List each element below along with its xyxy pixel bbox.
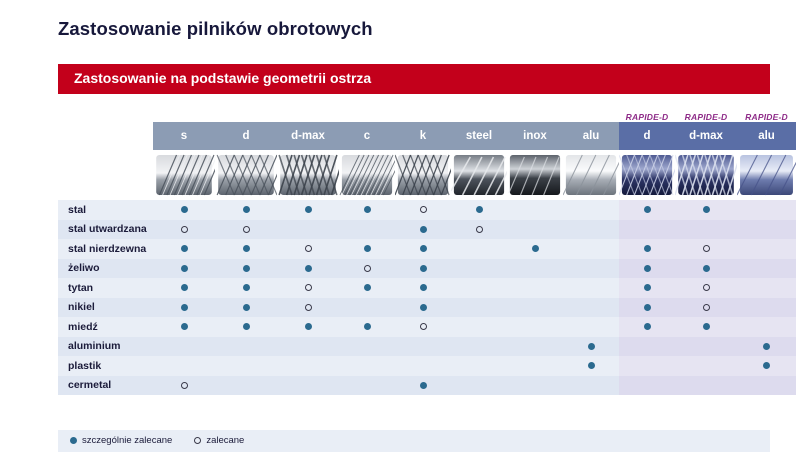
cell-tytan-alu	[563, 278, 619, 298]
mark-open	[703, 245, 710, 252]
mark-full	[703, 206, 710, 213]
table-row: stal	[58, 200, 796, 220]
cell-tytan-inox	[507, 278, 563, 298]
table-row: aluminium	[58, 337, 796, 357]
mark-full	[532, 245, 539, 252]
cell-tytan-steel	[451, 278, 507, 298]
cell-plastik-d-max	[277, 356, 339, 376]
cell-stalutw-steel	[451, 220, 507, 240]
cell-nikiel-d-max	[277, 298, 339, 318]
cell-nierdz-alu	[563, 239, 619, 259]
mark-open	[364, 265, 371, 272]
cell-cermetal-steel	[451, 376, 507, 396]
cell-stal-rapide-d-max	[675, 200, 737, 220]
burr-icon-s	[153, 151, 215, 199]
burr-icon-rapide-d-max	[675, 151, 737, 199]
mark-full	[644, 284, 651, 291]
mark-full	[305, 323, 312, 330]
column-header-row: s d d-max c k steel inox alu d d-max alu	[58, 122, 796, 150]
mark-open	[305, 245, 312, 252]
column-header-s: s	[153, 122, 215, 150]
cell-zeliwo-k	[395, 259, 451, 279]
burr-icon-alu	[563, 151, 619, 199]
cell-nikiel-steel	[451, 298, 507, 318]
rapide-label-2: RAPIDE-D	[675, 104, 737, 122]
row-label-plastik: plastik	[58, 356, 153, 376]
cell-cermetal-alu	[563, 376, 619, 396]
cell-nikiel-inox	[507, 298, 563, 318]
tool-image-cell-d-max	[277, 150, 339, 200]
mark-full	[243, 206, 250, 213]
cell-zeliwo-s	[153, 259, 215, 279]
cell-miedz-d	[215, 317, 277, 337]
column-header-k: k	[395, 122, 451, 150]
cell-cermetal-s	[153, 376, 215, 396]
cell-plastik-k	[395, 356, 451, 376]
tool-image-cell-s	[153, 150, 215, 200]
cell-stalutw-inox	[507, 220, 563, 240]
cell-stal-steel	[451, 200, 507, 220]
rapide-spacer	[563, 104, 619, 122]
mark-full	[364, 284, 371, 291]
burr-icon-d	[215, 151, 277, 199]
cell-zeliwo-rapide-d	[619, 259, 675, 279]
column-header-steel: steel	[451, 122, 507, 150]
column-header-c: c	[339, 122, 395, 150]
cell-nierdz-d-max	[277, 239, 339, 259]
column-header-rapide-alu: alu	[737, 122, 796, 150]
cell-plastik-rapide-d	[619, 356, 675, 376]
page-title: Zastosowanie pilników obrotowych	[58, 18, 373, 40]
table-row: miedź	[58, 317, 796, 337]
legend: szczególnie zalecane zalecane	[58, 430, 770, 452]
rapide-label-row: RAPIDE-D RAPIDE-D RAPIDE-D	[58, 104, 796, 122]
legend-full-label: szczególnie zalecane	[82, 435, 172, 446]
cell-stalutw-rapide-alu	[737, 220, 796, 240]
section-banner-label: Zastosowanie na podstawie geometrii ostr…	[74, 70, 371, 86]
mark-full	[181, 206, 188, 213]
mark-open	[181, 226, 188, 233]
cell-cermetal-rapide-d	[619, 376, 675, 396]
cell-stal-alu	[563, 200, 619, 220]
mark-full	[763, 343, 770, 350]
table-row: stal utwardzana	[58, 220, 796, 240]
mark-full	[181, 284, 188, 291]
cell-miedz-rapide-d-max	[675, 317, 737, 337]
mark-full	[420, 245, 427, 252]
cell-cermetal-rapide-alu	[737, 376, 796, 396]
section-banner: Zastosowanie na podstawie geometrii ostr…	[58, 64, 770, 94]
cell-plastik-inox	[507, 356, 563, 376]
cell-tytan-d	[215, 278, 277, 298]
cell-nierdz-steel	[451, 239, 507, 259]
cell-cermetal-inox	[507, 376, 563, 396]
mark-full	[181, 323, 188, 330]
mark-full	[181, 265, 188, 272]
rapide-spacer	[395, 104, 451, 122]
mark-full	[364, 206, 371, 213]
cell-nierdz-rapide-d	[619, 239, 675, 259]
mark-open	[305, 284, 312, 291]
cell-zeliwo-inox	[507, 259, 563, 279]
column-header-rapide-d-max: d-max	[675, 122, 737, 150]
mark-full	[644, 323, 651, 330]
cell-miedz-inox	[507, 317, 563, 337]
cell-miedz-d-max	[277, 317, 339, 337]
table-row: stal nierdzewna	[58, 239, 796, 259]
cell-tytan-s	[153, 278, 215, 298]
cell-stalutw-alu	[563, 220, 619, 240]
cell-stal-rapide-d	[619, 200, 675, 220]
mark-open	[476, 226, 483, 233]
mark-full	[243, 284, 250, 291]
cell-alum-d-max	[277, 337, 339, 357]
mark-full	[420, 304, 427, 311]
mark-full	[364, 323, 371, 330]
cell-nikiel-alu	[563, 298, 619, 318]
cell-nierdz-c	[339, 239, 395, 259]
cell-plastik-alu	[563, 356, 619, 376]
row-label-zeliwo: żeliwo	[58, 259, 153, 279]
mark-full	[181, 304, 188, 311]
tool-image-cell-c	[339, 150, 395, 200]
header-corner	[58, 122, 153, 150]
column-header-d-max: d-max	[277, 122, 339, 150]
cell-alum-k	[395, 337, 451, 357]
cell-stalutw-s	[153, 220, 215, 240]
tool-image-cell-rapide-d	[619, 150, 675, 200]
row-label-cermetal: cermetal	[58, 376, 153, 396]
cell-miedz-k	[395, 317, 451, 337]
mark-open	[703, 284, 710, 291]
cell-alum-inox	[507, 337, 563, 357]
cell-alum-d	[215, 337, 277, 357]
column-header-inox: inox	[507, 122, 563, 150]
cell-alum-rapide-d	[619, 337, 675, 357]
cell-cermetal-rapide-d-max	[675, 376, 737, 396]
cell-nikiel-rapide-alu	[737, 298, 796, 318]
cell-alum-rapide-alu	[737, 337, 796, 357]
cell-nierdz-s	[153, 239, 215, 259]
mark-open	[420, 206, 427, 213]
rapide-spacer	[339, 104, 395, 122]
row-label-stal: stal	[58, 200, 153, 220]
cell-miedz-rapide-alu	[737, 317, 796, 337]
mark-full	[644, 304, 651, 311]
cell-stalutw-rapide-d	[619, 220, 675, 240]
cell-nikiel-d	[215, 298, 277, 318]
rapide-spacer	[153, 104, 215, 122]
rapide-spacer	[58, 104, 153, 122]
burr-icon-c	[339, 151, 395, 199]
cell-stalutw-d	[215, 220, 277, 240]
mark-full	[243, 304, 250, 311]
legend-open-label: zalecane	[206, 435, 244, 446]
cell-plastik-rapide-d-max	[675, 356, 737, 376]
mark-full	[420, 284, 427, 291]
row-label-nikiel: nikiel	[58, 298, 153, 318]
document-page: Zastosowanie pilników obrotowych Zastoso…	[0, 0, 796, 457]
table-row: cermetal	[58, 376, 796, 396]
cell-zeliwo-steel	[451, 259, 507, 279]
burr-icon-rapide-d	[619, 151, 675, 199]
cell-nikiel-rapide-d	[619, 298, 675, 318]
cell-zeliwo-alu	[563, 259, 619, 279]
mark-full	[644, 265, 651, 272]
mark-full	[305, 206, 312, 213]
cell-cermetal-d-max	[277, 376, 339, 396]
table-row: żeliwo	[58, 259, 796, 279]
cell-plastik-steel	[451, 356, 507, 376]
tool-image-cell-rapide-alu	[737, 150, 796, 200]
column-header-rapide-d: d	[619, 122, 675, 150]
burr-icon-steel	[451, 151, 507, 199]
table-row: nikiel	[58, 298, 796, 318]
cell-tytan-d-max	[277, 278, 339, 298]
cell-alum-alu	[563, 337, 619, 357]
cell-plastik-d	[215, 356, 277, 376]
row-label-aluminium: aluminium	[58, 337, 153, 357]
mark-full	[181, 245, 188, 252]
rapide-spacer	[277, 104, 339, 122]
tool-image-cell-steel	[451, 150, 507, 200]
mark-full	[420, 265, 427, 272]
mark-full	[476, 206, 483, 213]
mark-full	[305, 265, 312, 272]
cell-zeliwo-c	[339, 259, 395, 279]
rapide-label-1: RAPIDE-D	[619, 104, 675, 122]
cell-nierdz-rapide-alu	[737, 239, 796, 259]
burr-icon-rapide-alu	[737, 151, 796, 199]
burr-icon-inox	[507, 151, 563, 199]
cell-cermetal-c	[339, 376, 395, 396]
cell-zeliwo-d	[215, 259, 277, 279]
cell-zeliwo-rapide-alu	[737, 259, 796, 279]
mark-open	[305, 304, 312, 311]
mark-open	[420, 323, 427, 330]
rapide-spacer	[507, 104, 563, 122]
column-header-alu: alu	[563, 122, 619, 150]
cell-miedz-steel	[451, 317, 507, 337]
mark-full	[243, 265, 250, 272]
tool-image-cell-rapide-d-max	[675, 150, 737, 200]
mark-full	[420, 226, 427, 233]
table-row: tytan	[58, 278, 796, 298]
mark-full	[364, 245, 371, 252]
cell-stal-d	[215, 200, 277, 220]
mark-full	[243, 323, 250, 330]
image-row-corner	[58, 150, 153, 200]
table-row: plastik	[58, 356, 796, 376]
cell-stalutw-d-max	[277, 220, 339, 240]
cell-stal-rapide-alu	[737, 200, 796, 220]
cell-miedz-alu	[563, 317, 619, 337]
row-label-stal-nierdzewna: stal nierdzewna	[58, 239, 153, 259]
tool-image-cell-alu	[563, 150, 619, 200]
application-matrix-table: RAPIDE-D RAPIDE-D RAPIDE-D s d d-max c k…	[58, 104, 796, 395]
mark-full	[763, 362, 770, 369]
cell-stalutw-c	[339, 220, 395, 240]
burr-icon-k	[395, 151, 451, 199]
mark-full	[243, 245, 250, 252]
cell-zeliwo-d-max	[277, 259, 339, 279]
row-label-stal-utwardzana: stal utwardzana	[58, 220, 153, 240]
tool-image-row	[58, 150, 796, 200]
cell-nierdz-d	[215, 239, 277, 259]
cell-zeliwo-rapide-d-max	[675, 259, 737, 279]
cell-miedz-c	[339, 317, 395, 337]
cell-cermetal-k	[395, 376, 451, 396]
cell-plastik-rapide-alu	[737, 356, 796, 376]
cell-stal-k	[395, 200, 451, 220]
cell-miedz-rapide-d	[619, 317, 675, 337]
cell-tytan-rapide-d-max	[675, 278, 737, 298]
rapide-spacer	[215, 104, 277, 122]
mark-full	[703, 265, 710, 272]
cell-nikiel-rapide-d-max	[675, 298, 737, 318]
cell-stal-s	[153, 200, 215, 220]
cell-plastik-s	[153, 356, 215, 376]
cell-plastik-c	[339, 356, 395, 376]
cell-nierdz-rapide-d-max	[675, 239, 737, 259]
mark-full	[644, 206, 651, 213]
cell-alum-rapide-d-max	[675, 337, 737, 357]
rapide-label-3: RAPIDE-D	[737, 104, 796, 122]
tool-image-cell-inox	[507, 150, 563, 200]
cell-stal-d-max	[277, 200, 339, 220]
cell-stal-inox	[507, 200, 563, 220]
mark-full	[644, 245, 651, 252]
mark-full	[588, 343, 595, 350]
cell-stalutw-k	[395, 220, 451, 240]
cell-nierdz-k	[395, 239, 451, 259]
legend-full-icon	[70, 437, 77, 444]
cell-miedz-s	[153, 317, 215, 337]
cell-tytan-rapide-d	[619, 278, 675, 298]
cell-nikiel-s	[153, 298, 215, 318]
burr-icon-d-max	[277, 151, 339, 199]
row-label-miedz: miedź	[58, 317, 153, 337]
mark-open	[703, 304, 710, 311]
rapide-spacer	[451, 104, 507, 122]
cell-nikiel-k	[395, 298, 451, 318]
cell-alum-s	[153, 337, 215, 357]
legend-open-icon	[194, 437, 201, 444]
cell-alum-steel	[451, 337, 507, 357]
cell-alum-c	[339, 337, 395, 357]
cell-tytan-c	[339, 278, 395, 298]
mark-full	[420, 382, 427, 389]
cell-tytan-k	[395, 278, 451, 298]
cell-nikiel-c	[339, 298, 395, 318]
row-label-tytan: tytan	[58, 278, 153, 298]
mark-full	[703, 323, 710, 330]
tool-image-cell-d	[215, 150, 277, 200]
cell-stalutw-rapide-d-max	[675, 220, 737, 240]
column-header-d: d	[215, 122, 277, 150]
mark-open	[243, 226, 250, 233]
cell-tytan-rapide-alu	[737, 278, 796, 298]
mark-full	[588, 362, 595, 369]
cell-stal-c	[339, 200, 395, 220]
cell-nierdz-inox	[507, 239, 563, 259]
mark-open	[181, 382, 188, 389]
tool-image-cell-k	[395, 150, 451, 200]
cell-cermetal-d	[215, 376, 277, 396]
